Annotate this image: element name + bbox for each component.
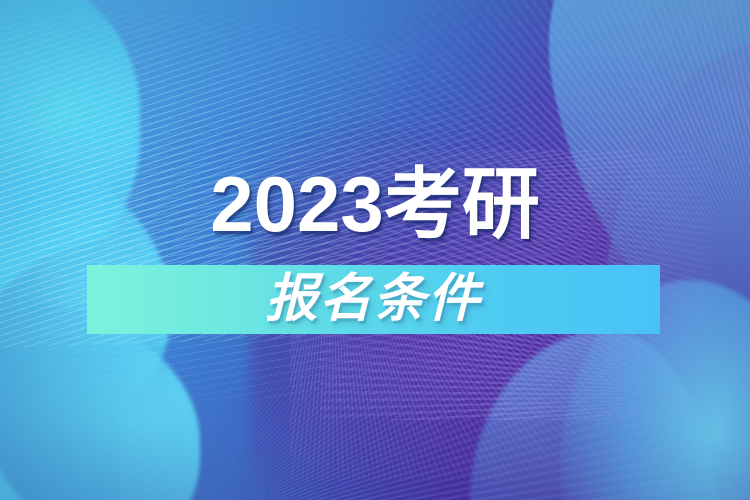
- headline-text: 2023考研: [210, 158, 540, 250]
- promo-banner: 2023考研 报名条件: [0, 0, 750, 500]
- subtitle-band-text: 报名条件: [265, 271, 481, 327]
- headline: 2023考研: [0, 158, 750, 250]
- fan-line-texture-bottom: [120, 330, 750, 500]
- subtitle-band: 报名条件: [87, 265, 660, 334]
